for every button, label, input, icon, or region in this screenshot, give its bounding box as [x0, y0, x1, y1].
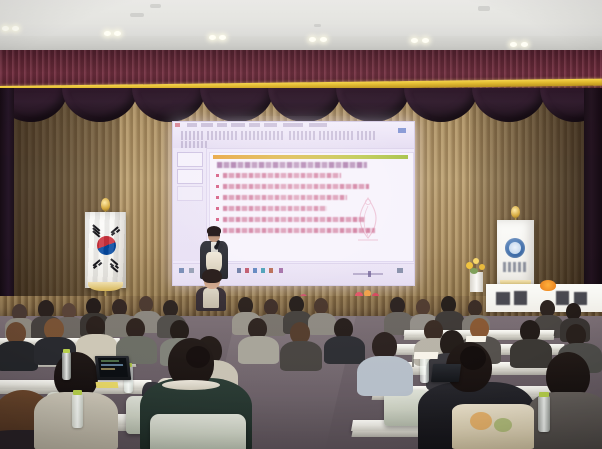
- audience-vest: [203, 288, 219, 308]
- audience-body: [324, 336, 365, 364]
- curtain-leg-right: [584, 88, 602, 306]
- view-slideshow-icon[interactable]: [261, 268, 265, 273]
- curtain-leg-left: [0, 88, 14, 306]
- slide-bullet-line: [223, 217, 365, 222]
- chair-back: [150, 414, 246, 449]
- flower-leaf: [470, 268, 478, 274]
- flower-bloom: [479, 264, 485, 270]
- ceiling-downlight: [209, 35, 216, 40]
- ceiling-vent: [478, 6, 490, 11]
- bullet-marker-icon: [216, 185, 219, 188]
- ceiling-vent: [130, 13, 144, 17]
- institution-flag-text: [503, 262, 528, 272]
- ribbon-group-font[interactable]: [241, 131, 285, 140]
- slide-bullet-line: [223, 206, 327, 211]
- water-bottle: [538, 396, 550, 432]
- ribbon-tab[interactable]: [283, 123, 303, 127]
- fit-slide-icon[interactable]: [397, 268, 403, 273]
- shirt-collar: [162, 380, 220, 390]
- water-bottle: [62, 352, 71, 380]
- ceiling-downlight: [422, 38, 429, 43]
- laptop[interactable]: [431, 364, 461, 382]
- account-icon[interactable]: [398, 128, 406, 133]
- bullet-marker-icon: [216, 174, 219, 177]
- banner-text: [556, 291, 569, 305]
- view-reading-icon[interactable]: [253, 268, 257, 273]
- ribbon-tab[interactable]: [249, 123, 260, 127]
- hair-bun: [460, 346, 486, 370]
- flag-fold-shading: [85, 212, 126, 288]
- paper-sheet: [466, 336, 487, 342]
- bottle-cap: [63, 349, 70, 353]
- slide-accent-bar: [213, 155, 408, 159]
- bullet-marker-icon: [216, 207, 219, 210]
- ribbon-tab[interactable]: [309, 123, 327, 127]
- view-normal-icon[interactable]: [237, 268, 241, 273]
- ribbon-group-paragraph[interactable]: [289, 131, 315, 140]
- audience-head: [468, 300, 482, 316]
- ceiling-downlight: [114, 31, 121, 36]
- ribbon-tab[interactable]: [217, 123, 227, 127]
- audience-body: [357, 356, 413, 396]
- hair-bun: [186, 346, 210, 368]
- ceiling-downlight: [309, 37, 316, 42]
- slide-thumbnail[interactable]: [177, 186, 203, 201]
- ceiling-downlight: [12, 26, 19, 31]
- audience-head: [264, 299, 278, 315]
- water-bottle: [420, 356, 429, 383]
- ceiling-downlight: [510, 42, 517, 47]
- wall-shadow-right: [470, 90, 602, 305]
- ceiling-downlight: [219, 35, 226, 40]
- bottle-cap: [73, 390, 82, 395]
- notes-icon[interactable]: [269, 268, 273, 273]
- bag-ornament: [494, 418, 512, 432]
- audience-body: [280, 341, 322, 371]
- ribbon-toolbar[interactable]: [173, 122, 414, 149]
- bullet-marker-icon: [216, 218, 219, 221]
- slide-bullet-line: [223, 195, 347, 200]
- audience-hair: [202, 269, 222, 283]
- laptop-code-line: [101, 360, 119, 362]
- laptop-code-line: [101, 368, 115, 370]
- ceiling-downlight: [104, 31, 111, 36]
- bag-ornament: [470, 412, 492, 430]
- audience-body: [510, 339, 552, 368]
- banner-text: [514, 291, 527, 305]
- laptop-code-line: [101, 364, 123, 366]
- ribbon-group-editing[interactable]: [357, 131, 375, 140]
- zoom-slider-handle[interactable]: [368, 271, 371, 277]
- slide-thumbnail[interactable]: [177, 152, 203, 167]
- ceiling-downlight: [2, 26, 9, 31]
- audience-head: [314, 298, 328, 314]
- ceiling-vent: [314, 24, 321, 27]
- emblem-inner-icon: [509, 242, 521, 254]
- ribbon-group-drawing[interactable]: [319, 131, 353, 140]
- flag-finial-icon: [511, 206, 520, 218]
- slide-thumbnail[interactable]: [177, 169, 203, 184]
- ribbon-tab[interactable]: [187, 123, 197, 127]
- sticky-note: [96, 382, 119, 388]
- paper-sheet: [414, 352, 439, 359]
- ribbon-tab[interactable]: [201, 123, 213, 127]
- audience-body: [238, 336, 279, 364]
- slide-title: [217, 162, 367, 168]
- audience-body: [308, 313, 336, 335]
- banner-text: [496, 292, 510, 305]
- ribbon-group-slides[interactable]: [207, 131, 237, 140]
- flag-finial-icon: [101, 198, 110, 211]
- ceiling-downlight: [320, 37, 327, 42]
- audience-head: [139, 296, 153, 312]
- comments-icon[interactable]: [279, 268, 283, 273]
- status-icon[interactable]: [179, 268, 184, 273]
- audience-head: [416, 299, 430, 315]
- presenter-hair: [207, 226, 221, 235]
- ceiling-vent: [150, 4, 161, 8]
- slide-bullet-line: [223, 173, 341, 178]
- tote-bag: [452, 404, 534, 449]
- ceiling-downlight: [411, 38, 418, 43]
- slide-bullet-line: [223, 184, 369, 189]
- flower-bloom: [473, 258, 479, 264]
- flower-vase: [470, 272, 483, 292]
- audience-body: [0, 341, 38, 371]
- ribbon-group-clipboard[interactable]: [181, 131, 203, 140]
- ceiling-downlight: [521, 42, 528, 47]
- water-bottle: [72, 394, 83, 428]
- status-icon[interactable]: [189, 268, 194, 273]
- bullet-marker-icon: [216, 196, 219, 199]
- app-logo-icon: [175, 123, 180, 127]
- bottle-cap: [539, 392, 549, 397]
- ribbon-tab[interactable]: [264, 123, 277, 127]
- ribbon-tab[interactable]: [231, 123, 245, 127]
- auditorium-photo: [0, 0, 602, 449]
- view-sorter-icon[interactable]: [245, 268, 249, 273]
- slide-figure-decoration: [351, 194, 385, 246]
- banner-ornament-icon: [540, 280, 556, 291]
